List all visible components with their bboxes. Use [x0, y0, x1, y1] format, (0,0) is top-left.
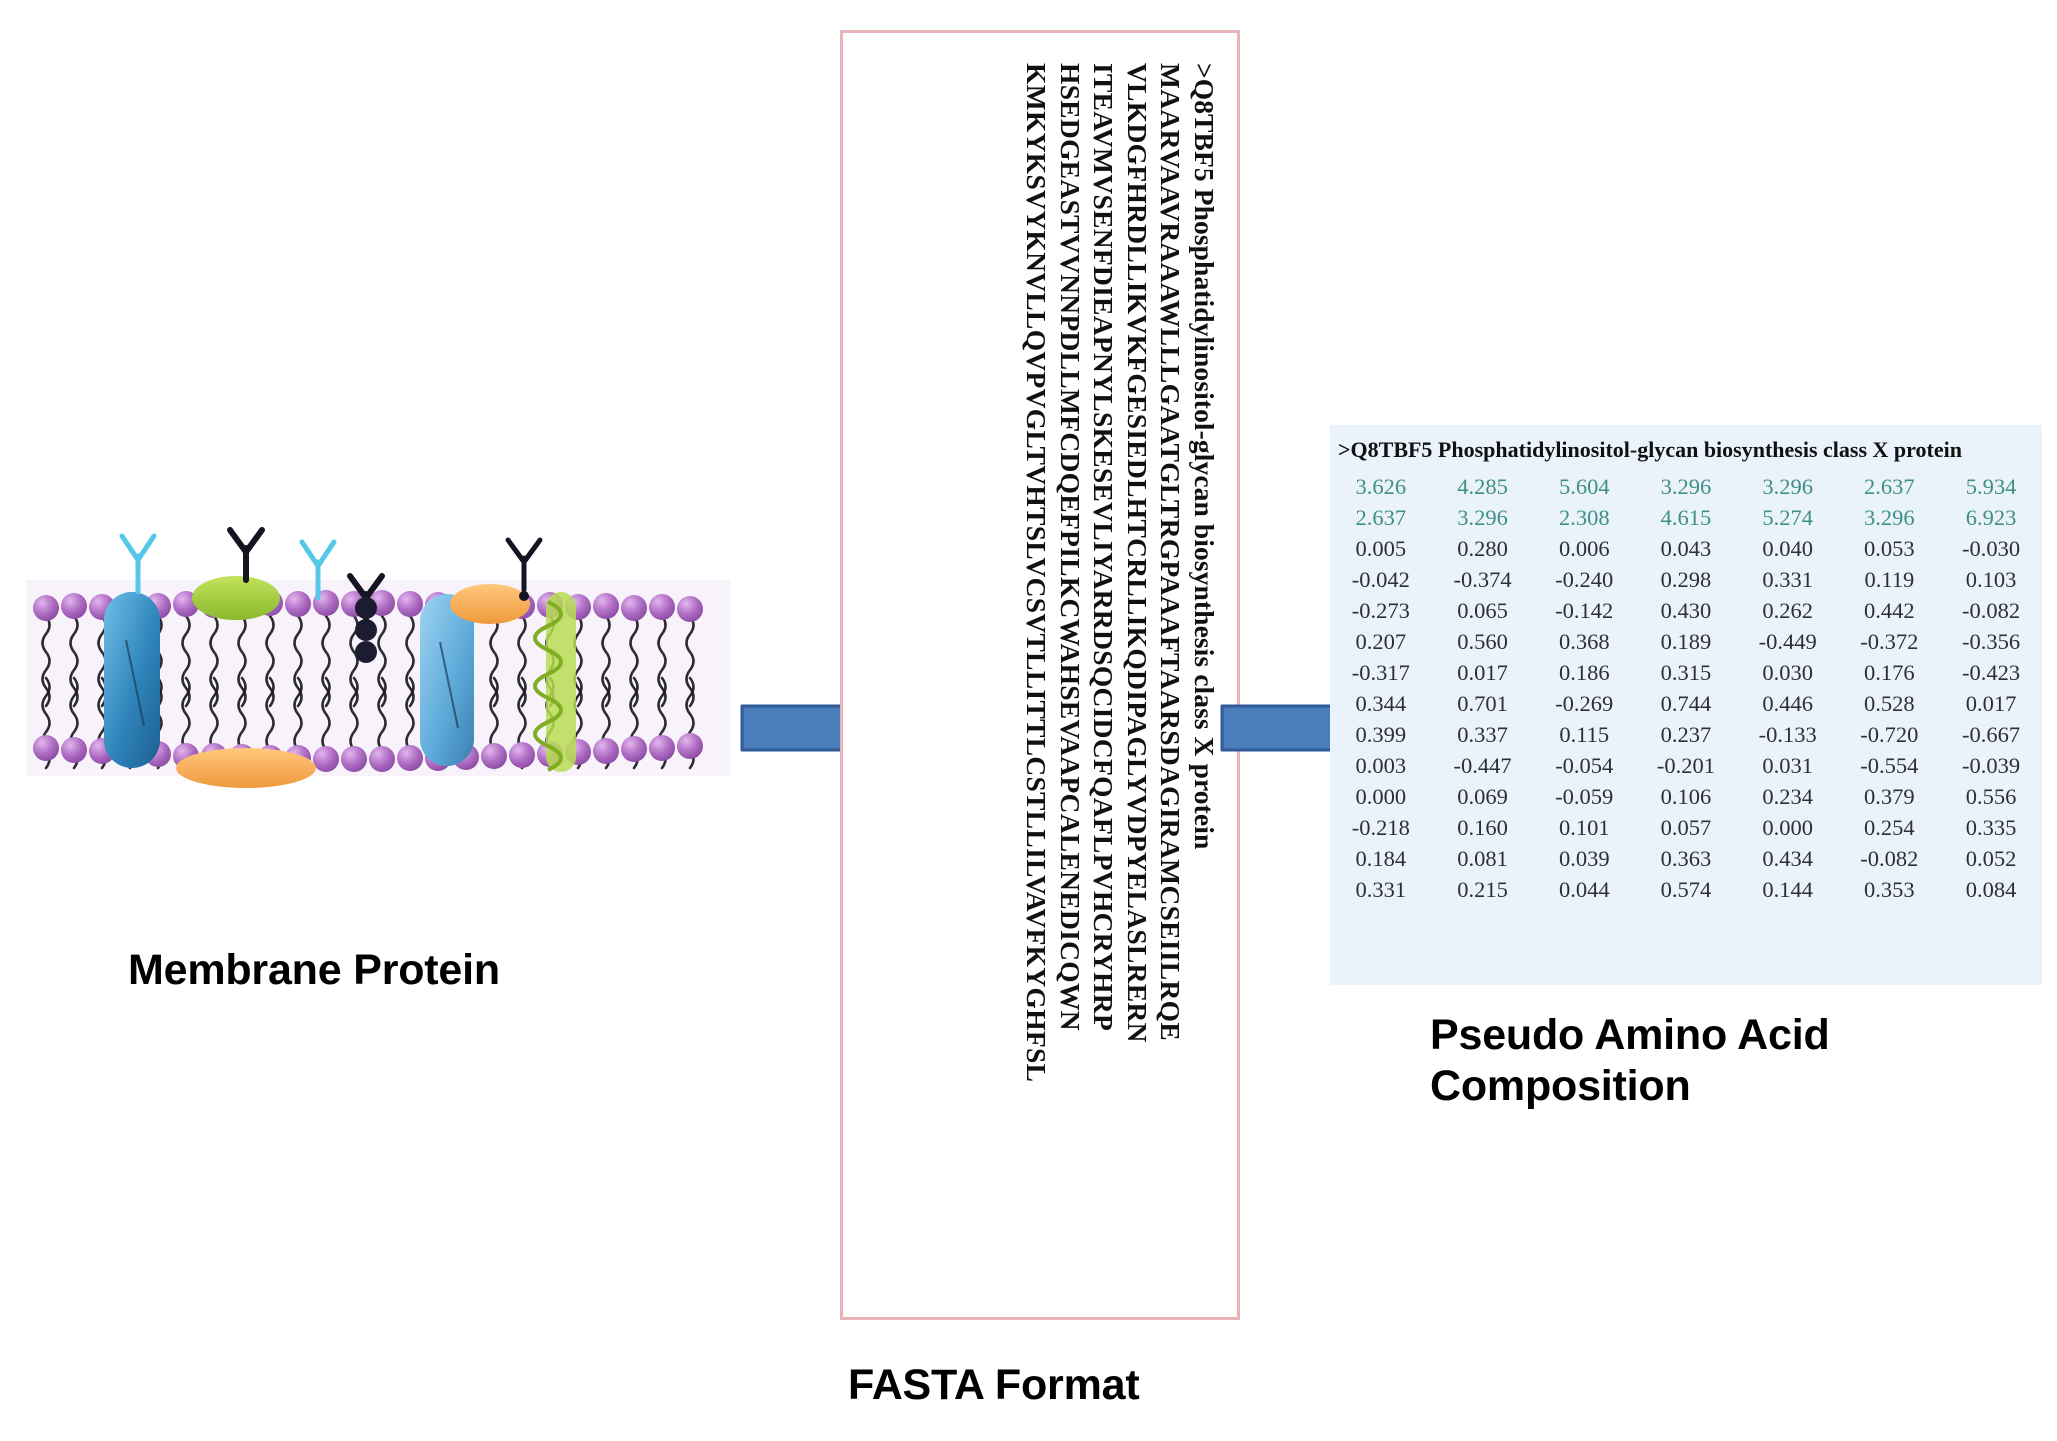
pseaac-cell: 5.934 [1940, 471, 2042, 502]
pseaac-cell: 0.081 [1432, 843, 1534, 874]
pseaac-table-panel: >Q8TBF5 Phosphatidylinositol-glycan bios… [1330, 425, 2042, 985]
fasta-sequence-line-4: HSEDGEASTVVNNPDLLMFCDQEFPILKCWAHSEVAAPCA… [1054, 63, 1088, 1297]
pseaac-cell: -0.059 [1533, 781, 1635, 812]
pseaac-row: 2.6373.2962.3084.6155.2743.2966.923 [1330, 502, 2042, 533]
pseaac-cell: 0.101 [1533, 812, 1635, 843]
pseaac-cell: -0.374 [1432, 564, 1534, 595]
pseaac-cell: 6.923 [1940, 502, 2042, 533]
pseaac-cell: 0.237 [1635, 719, 1737, 750]
pseaac-cell: -0.240 [1533, 564, 1635, 595]
pseaac-row: 0.3440.701-0.2690.7440.4460.5280.017 [1330, 688, 2042, 719]
pseaac-cell: 0.031 [1737, 750, 1839, 781]
pseaac-cell: -0.201 [1635, 750, 1737, 781]
pseaac-cell: 0.574 [1635, 874, 1737, 905]
glycan-chain-dark-left [230, 530, 262, 580]
pseaac-cell: 0.053 [1839, 533, 1941, 564]
pseaac-cell: -0.667 [1940, 719, 2042, 750]
peripheral-protein-green [192, 576, 280, 620]
pseaac-cell: -0.372 [1839, 626, 1941, 657]
pseaac-cell: 0.280 [1432, 533, 1534, 564]
pseaac-cell: 0.003 [1330, 750, 1432, 781]
pseaac-cell: 0.560 [1432, 626, 1534, 657]
pseaac-cell: 0.039 [1533, 843, 1635, 874]
pseaac-cell: 0.184 [1330, 843, 1432, 874]
pseaac-cell: 0.331 [1330, 874, 1432, 905]
pseaac-cell: 0.057 [1635, 812, 1737, 843]
pseaac-cell: 0.069 [1432, 781, 1534, 812]
fasta-sequence-line-1: MAARVAAVRAAAWLLLGAATGLTRGPAAAFTAARSDAGIR… [1154, 63, 1188, 1297]
peripheral-protein-orange-bottom [176, 748, 316, 788]
pseaac-cell: -0.269 [1533, 688, 1635, 719]
pseaac-cell: 0.234 [1737, 781, 1839, 812]
pseaac-header-line: >Q8TBF5 Phosphatidylinositol-glycan bios… [1330, 425, 2042, 471]
pseaac-cell: 0.017 [1940, 688, 2042, 719]
pseaac-cell: 5.274 [1737, 502, 1839, 533]
pseaac-cell: -0.142 [1533, 595, 1635, 626]
pseaac-cell: -0.356 [1940, 626, 2042, 657]
pseaac-row: 3.6264.2855.6043.2963.2962.6375.934 [1330, 471, 2042, 502]
pseaac-cell: 4.615 [1635, 502, 1737, 533]
pseaac-cell: -0.273 [1330, 595, 1432, 626]
pseaac-cell: 0.005 [1330, 533, 1432, 564]
pseaac-cell: -0.039 [1940, 750, 2042, 781]
fasta-format-caption: FASTA Format [848, 1360, 1139, 1411]
pseaac-cell: 3.626 [1330, 471, 1432, 502]
pseaac-row: -0.2730.065-0.1420.4300.2620.442-0.082 [1330, 595, 2042, 626]
pseaac-cell: 0.331 [1737, 564, 1839, 595]
pseaac-cell: 0.065 [1432, 595, 1534, 626]
fasta-header-line: >Q8TBF5 Phosphatidylinositol-glycan bios… [1188, 63, 1222, 1297]
pseaac-cell: 3.296 [1737, 471, 1839, 502]
pseaac-cell: -0.133 [1737, 719, 1839, 750]
pseaac-cell: 0.337 [1432, 719, 1534, 750]
pseaac-cell: 0.176 [1839, 657, 1941, 688]
pseaac-cell: 0.052 [1940, 843, 2042, 874]
pseaac-cell: -0.082 [1940, 595, 2042, 626]
pseaac-row: 0.3310.2150.0440.5740.1440.3530.084 [1330, 874, 2042, 905]
pseaac-cell: 0.189 [1635, 626, 1737, 657]
pseaac-row: -0.042-0.374-0.2400.2980.3310.1190.103 [1330, 564, 2042, 595]
pseaac-cell: 0.160 [1432, 812, 1534, 843]
pseaac-cell: 2.308 [1533, 502, 1635, 533]
fasta-format-box: >Q8TBF5 Phosphatidylinositol-glycan bios… [840, 30, 1240, 1320]
pseaac-cell: 2.637 [1330, 502, 1432, 533]
pseaac-row: -0.2180.1600.1010.0570.0000.2540.335 [1330, 812, 2042, 843]
pseaac-cell: 0.368 [1533, 626, 1635, 657]
pseaac-cell: 0.353 [1839, 874, 1941, 905]
pseaac-cell: 0.040 [1737, 533, 1839, 564]
pseaac-cell: 0.430 [1635, 595, 1737, 626]
membrane-protein-illustration [18, 520, 738, 900]
pseaac-cell: 0.103 [1940, 564, 2042, 595]
pseaac-cell: -0.554 [1839, 750, 1941, 781]
pseaac-cell: -0.720 [1839, 719, 1941, 750]
pseaac-cell: 0.030 [1737, 657, 1839, 688]
pseaac-cell: 0.701 [1432, 688, 1534, 719]
pseaac-cell: 0.442 [1839, 595, 1941, 626]
pseaac-cell: 0.744 [1635, 688, 1737, 719]
diagram-canvas: Membrane Protein >Q8TBF5 Phosphatidylino… [0, 0, 2057, 1441]
pseaac-row: 0.003-0.447-0.054-0.2010.031-0.554-0.039 [1330, 750, 2042, 781]
lipid-head-dark-column [355, 597, 377, 663]
pseaac-cell: 0.043 [1635, 533, 1737, 564]
pseaac-values-table: 3.6264.2855.6043.2963.2962.6375.9342.637… [1330, 471, 2042, 905]
pseaac-cell: -0.218 [1330, 812, 1432, 843]
fasta-sequence-line-2: VLKDGFHRDLLIKVKFGESIEDLHTCRLLIKQDIPAGLYV… [1121, 63, 1155, 1297]
pseaac-cell: 0.344 [1330, 688, 1432, 719]
pseaac-cell: -0.447 [1432, 750, 1534, 781]
pseaac-cell: 0.006 [1533, 533, 1635, 564]
pseaac-cell: 0.363 [1635, 843, 1737, 874]
pseaac-cell: 2.637 [1839, 471, 1941, 502]
pseaac-cell: -0.082 [1839, 843, 1941, 874]
pseaac-row: 0.2070.5600.3680.189-0.449-0.372-0.356 [1330, 626, 2042, 657]
pseaac-cell: 0.044 [1533, 874, 1635, 905]
pseaac-cell: 0.000 [1330, 781, 1432, 812]
fasta-sequence-line-5: KMKYKSVYKNVLLQVPVGLTVHTSLVCSVTLLITTLCSTL… [1020, 63, 1054, 1297]
pseaac-cell: 0.335 [1940, 812, 2042, 843]
pseaac-cell: 0.115 [1533, 719, 1635, 750]
pseaac-cell: 0.215 [1432, 874, 1534, 905]
pseaac-row: 0.0000.069-0.0590.1060.2340.3790.556 [1330, 781, 2042, 812]
pseaac-row: -0.3170.0170.1860.3150.0300.176-0.423 [1330, 657, 2042, 688]
pseaac-caption: Pseudo Amino Acid Composition [1430, 1010, 1950, 1111]
pseaac-cell: 0.315 [1635, 657, 1737, 688]
pseaac-cell: 0.379 [1839, 781, 1941, 812]
fasta-sequence-line-3: ITEAVMVSENFDIEAPNYLSKESEVLIYARRDSQCIDCFQ… [1087, 63, 1121, 1297]
pseaac-cell: 0.186 [1533, 657, 1635, 688]
pseaac-cell: -0.317 [1330, 657, 1432, 688]
pseaac-cell: 0.254 [1839, 812, 1941, 843]
pseaac-cell: 0.084 [1940, 874, 2042, 905]
membrane-protein-caption: Membrane Protein [128, 945, 500, 996]
pseaac-cell: 0.298 [1635, 564, 1737, 595]
pseaac-cell: -0.042 [1330, 564, 1432, 595]
pseaac-row: 0.1840.0810.0390.3630.434-0.0820.052 [1330, 843, 2042, 874]
pseaac-row: 0.0050.2800.0060.0430.0400.053-0.030 [1330, 533, 2042, 564]
pseaac-cell: 4.285 [1432, 471, 1534, 502]
pseaac-cell: -0.449 [1737, 626, 1839, 657]
pseaac-cell: 3.296 [1839, 502, 1941, 533]
pseaac-cell: 0.399 [1330, 719, 1432, 750]
fasta-rotated-content: >Q8TBF5 Phosphatidylinositol-glycan bios… [843, 33, 1243, 1323]
pseaac-cell: 3.296 [1635, 471, 1737, 502]
pseaac-cell: 0.528 [1839, 688, 1941, 719]
pseaac-cell: 0.207 [1330, 626, 1432, 657]
pseaac-cell: 3.296 [1432, 502, 1534, 533]
peripheral-protein-orange-top [450, 584, 530, 624]
pseaac-cell: 0.000 [1737, 812, 1839, 843]
pseaac-cell: -0.030 [1940, 533, 2042, 564]
pseaac-cell: -0.054 [1533, 750, 1635, 781]
pseaac-cell: 0.144 [1737, 874, 1839, 905]
pseaac-cell: 5.604 [1533, 471, 1635, 502]
pseaac-cell: 0.017 [1432, 657, 1534, 688]
pseaac-cell: -0.423 [1940, 657, 2042, 688]
pseaac-cell: 0.262 [1737, 595, 1839, 626]
pseaac-row: 0.3990.3370.1150.237-0.133-0.720-0.667 [1330, 719, 2042, 750]
pseaac-cell: 0.556 [1940, 781, 2042, 812]
pseaac-cell: 0.446 [1737, 688, 1839, 719]
pseaac-cell: 0.119 [1839, 564, 1941, 595]
pseaac-table-body: 3.6264.2855.6043.2963.2962.6375.9342.637… [1330, 471, 2042, 905]
membrane-diagram-svg [18, 520, 738, 900]
pseaac-cell: 0.106 [1635, 781, 1737, 812]
transmembrane-protein-left [104, 592, 160, 768]
pseaac-cell: 0.434 [1737, 843, 1839, 874]
